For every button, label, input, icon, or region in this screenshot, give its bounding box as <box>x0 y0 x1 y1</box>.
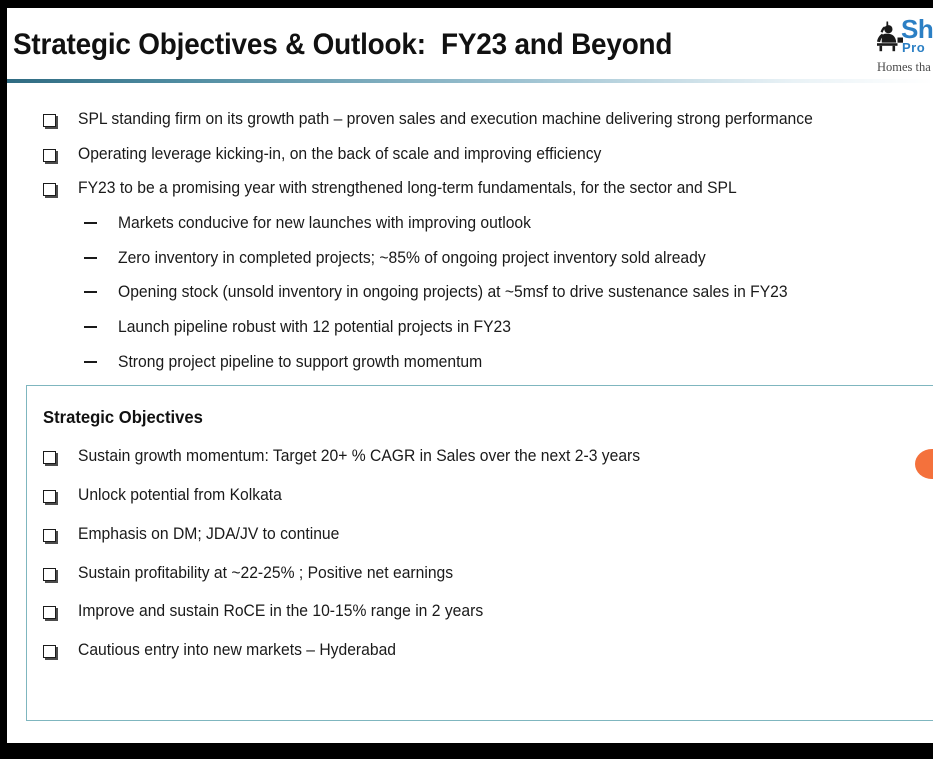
person-raising-hand-icon <box>873 20 903 52</box>
checkbox-bullet-icon <box>43 114 56 127</box>
checkbox-bullet-icon <box>43 645 56 658</box>
checkbox-bullet-icon <box>43 149 56 162</box>
checkbox-bullet-icon <box>43 183 56 196</box>
strategic-objectives-panel <box>26 385 933 721</box>
objective-bullet-2: Emphasis on DM; JDA/JV to continue <box>43 524 353 544</box>
company-logo: Sh Pro Homes tha <box>873 16 933 78</box>
logo-wordmark: Sh <box>901 18 933 40</box>
dash-bullet-icon <box>84 291 97 293</box>
main-bullet-2: FY23 to be a promising year with strengt… <box>43 178 771 198</box>
title-divider <box>7 79 933 83</box>
main-bullet-0: SPL standing firm on its growth path – p… <box>43 109 852 129</box>
sub-bullet-text: Launch pipeline robust with 12 potential… <box>118 317 511 337</box>
objective-bullet-0: Sustain growth momentum: Target 20+ % CA… <box>43 446 670 466</box>
sub-bullet-3: Launch pipeline robust with 12 potential… <box>84 317 532 337</box>
sub-bullet-2: Opening stock (unsold inventory in ongoi… <box>84 282 823 302</box>
sub-bullet-text: Opening stock (unsold inventory in ongoi… <box>118 282 788 302</box>
objective-bullet-3: Sustain profitability at ~22-25% ; Posit… <box>43 563 473 583</box>
objective-text: Sustain growth momentum: Target 20+ % CA… <box>78 446 640 466</box>
checkbox-bullet-icon <box>43 451 56 464</box>
objective-bullet-5: Cautious entry into new markets – Hydera… <box>43 640 413 660</box>
checkbox-bullet-icon <box>43 529 56 542</box>
objective-text: Unlock potential from Kolkata <box>78 485 282 505</box>
objectives-heading: Strategic Objectives <box>43 407 203 428</box>
slide-surface: Strategic Objectives & Outlook: FY23 and… <box>7 8 933 743</box>
objective-text: Sustain profitability at ~22-25% ; Posit… <box>78 563 453 583</box>
objective-text: Emphasis on DM; JDA/JV to continue <box>78 524 339 544</box>
checkbox-bullet-icon <box>43 490 56 503</box>
sub-bullet-text: Zero inventory in completed projects; ~8… <box>118 248 706 268</box>
main-bullet-1: Operating leverage kicking-in, on the ba… <box>43 144 629 164</box>
sub-bullet-0: Markets conducive for new launches with … <box>84 213 553 233</box>
main-bullet-text: SPL standing firm on its growth path – p… <box>78 109 813 129</box>
sub-bullet-text: Strong project pipeline to support growt… <box>118 352 482 372</box>
checkbox-bullet-icon <box>43 606 56 619</box>
sub-bullet-4: Strong project pipeline to support growt… <box>84 352 501 372</box>
dash-bullet-icon <box>84 361 97 363</box>
objective-text: Cautious entry into new markets – Hydera… <box>78 640 396 660</box>
main-bullet-text: FY23 to be a promising year with strengt… <box>78 178 737 198</box>
dash-bullet-icon <box>84 222 97 224</box>
page-title: Strategic Objectives & Outlook: FY23 and… <box>13 28 720 62</box>
slide-frame: Strategic Objectives & Outlook: FY23 and… <box>0 0 933 759</box>
sub-bullet-text: Markets conducive for new launches with … <box>118 213 531 233</box>
dash-bullet-icon <box>84 326 97 328</box>
dash-bullet-icon <box>84 257 97 259</box>
sub-bullet-1: Zero inventory in completed projects; ~8… <box>84 248 737 268</box>
objective-text: Improve and sustain RoCE in the 10-15% r… <box>78 601 483 621</box>
objective-bullet-4: Improve and sustain RoCE in the 10-15% r… <box>43 601 505 621</box>
checkbox-bullet-icon <box>43 568 56 581</box>
logo-tagline: Homes tha <box>877 60 931 75</box>
objective-bullet-1: Unlock potential from Kolkata <box>43 485 293 505</box>
logo-wordmark-sub: Pro <box>902 40 925 55</box>
main-bullet-text: Operating leverage kicking-in, on the ba… <box>78 144 601 164</box>
